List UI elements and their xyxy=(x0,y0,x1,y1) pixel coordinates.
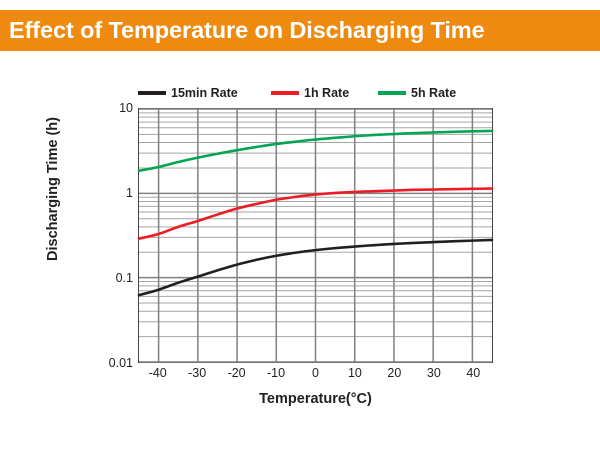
title-banner: Effect of Temperature on Discharging Tim… xyxy=(0,10,600,51)
page-title: Effect of Temperature on Discharging Tim… xyxy=(9,17,485,44)
legend-label-15min-rate: 15min Rate xyxy=(171,86,238,100)
chart-legend: 15min Rate 1h Rate 5h Rate xyxy=(138,84,498,102)
legend-item-15min-rate: 15min Rate xyxy=(138,84,238,102)
x-tick-label: 40 xyxy=(466,366,480,380)
legend-swatch-5h-rate xyxy=(378,91,406,95)
y-tick-label: 0.01 xyxy=(109,356,133,370)
x-tick-label: 10 xyxy=(348,366,362,380)
legend-item-5h-rate: 5h Rate xyxy=(378,84,456,102)
legend-label-1h-rate: 1h Rate xyxy=(304,86,349,100)
legend-item-1h-rate: 1h Rate xyxy=(271,84,349,102)
x-tick-label: -40 xyxy=(149,366,167,380)
legend-swatch-15min-rate xyxy=(138,91,166,95)
data-curves xyxy=(139,109,492,362)
legend-label-5h-rate: 5h Rate xyxy=(411,86,456,100)
x-tick-label: -20 xyxy=(228,366,246,380)
series-line-15min-rate xyxy=(139,240,492,295)
y-tick-label: 1 xyxy=(126,186,133,200)
y-axis-tick-labels: 1010.10.01 xyxy=(88,108,133,363)
x-tick-label: 0 xyxy=(312,366,319,380)
chart-container: 15min Rate 1h Rate 5h Rate 1010.10.01 -4… xyxy=(0,51,600,451)
x-tick-label: -10 xyxy=(267,366,285,380)
x-tick-label: 20 xyxy=(387,366,401,380)
y-tick-label: 10 xyxy=(119,101,133,115)
y-tick-label: 0.1 xyxy=(116,271,133,285)
legend-swatch-1h-rate xyxy=(271,91,299,95)
plot-area xyxy=(138,108,493,363)
x-tick-label: 30 xyxy=(427,366,441,380)
x-tick-label: -30 xyxy=(188,366,206,380)
x-axis-tick-labels: -40-30-20-10010203040 xyxy=(138,366,493,384)
x-axis-title: Temperature(°C) xyxy=(138,391,493,407)
series-line-1h-rate xyxy=(139,189,492,239)
series-line-5h-rate xyxy=(139,131,492,171)
y-axis-title: Discharging Time (h) xyxy=(45,89,61,289)
